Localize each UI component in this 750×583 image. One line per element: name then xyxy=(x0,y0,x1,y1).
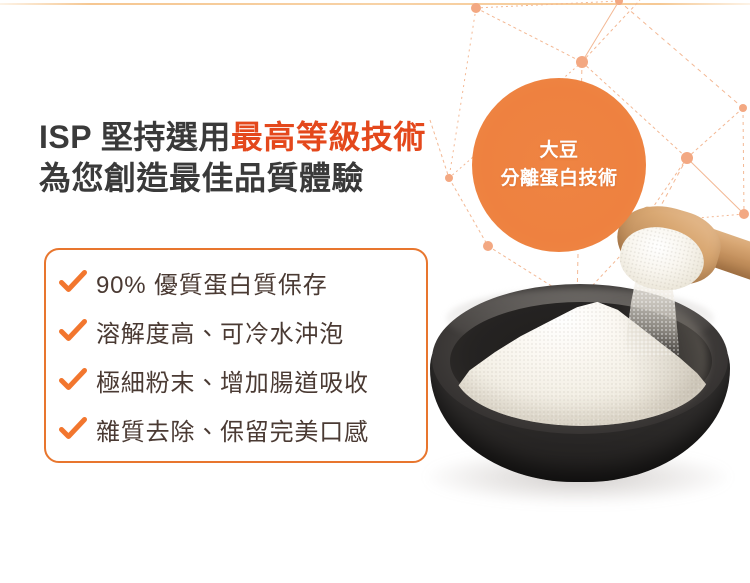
feature-item: 極細粉末、增加腸道吸收 xyxy=(58,356,438,405)
soy-protein-badge: 大豆 分離蛋白技術 xyxy=(472,78,646,252)
badge-text: 大豆 分離蛋白技術 xyxy=(500,137,617,192)
headline-line-2: 為您創造最佳品質體驗 xyxy=(39,158,469,199)
headline-prefix: ISP 堅持選用 xyxy=(39,119,231,155)
feature-item: 90% 優質蛋白質保存 xyxy=(58,258,438,307)
product-photo xyxy=(398,258,750,558)
feature-item: 溶解度高、可冷水沖泡 xyxy=(58,307,438,356)
check-mark-icon xyxy=(58,415,88,445)
headline-line-1: ISP 堅持選用最高等級技術 xyxy=(39,117,469,158)
feature-label: 溶解度高、可冷水沖泡 xyxy=(96,314,344,349)
headline: ISP 堅持選用最高等級技術 為您創造最佳品質體驗 xyxy=(39,117,469,199)
top-divider-rule xyxy=(0,3,750,5)
feature-label: 極細粉末、增加腸道吸收 xyxy=(96,363,369,398)
features-list: 90% 優質蛋白質保存 溶解度高、可冷水沖泡 極細粉末、增加腸道吸收 xyxy=(58,258,438,454)
check-mark-icon xyxy=(58,268,88,298)
check-mark-icon xyxy=(58,366,88,396)
check-mark-icon xyxy=(58,317,88,347)
feature-item: 雜質去除、保留完美口感 xyxy=(58,405,438,454)
promo-banner: 大豆 分離蛋白技術 ISP 堅持選用最高等級技術 為您創造最佳品質體驗 90% … xyxy=(0,0,750,583)
badge-line-1: 大豆 xyxy=(500,137,617,165)
feature-label: 雜質去除、保留完美口感 xyxy=(96,412,369,447)
headline-highlight: 最高等級技術 xyxy=(231,119,426,155)
feature-label: 90% 優質蛋白質保存 xyxy=(96,265,328,300)
badge-line-2: 分離蛋白技術 xyxy=(500,165,617,193)
